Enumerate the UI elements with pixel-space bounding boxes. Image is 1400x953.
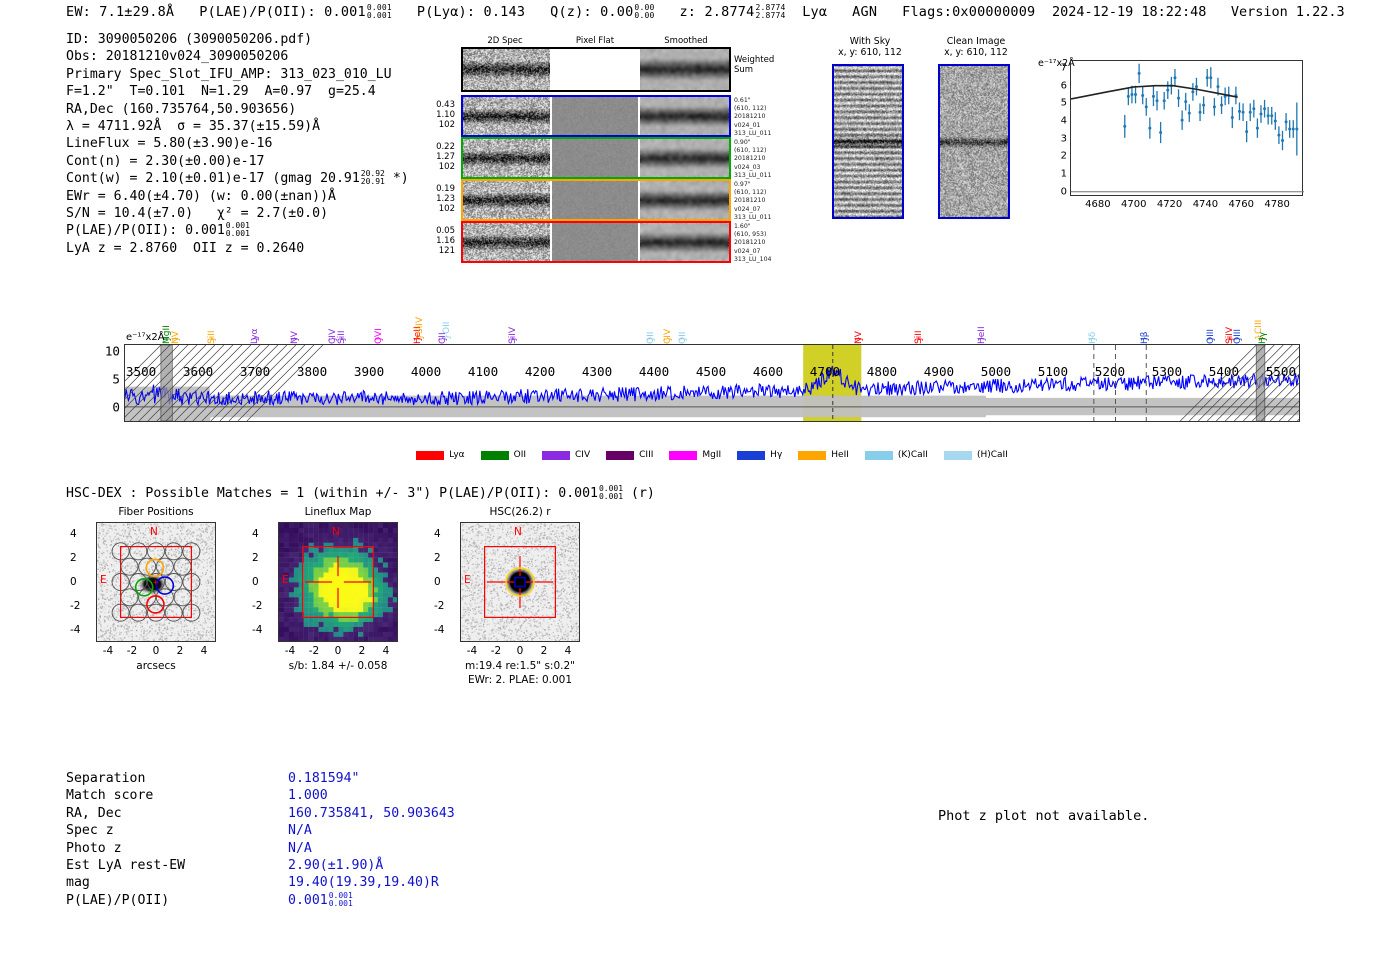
info-lambda-sigma: λ = 4711.92Å σ = 35.37(±15.59)Å: [66, 118, 409, 135]
info-radec: RA,Dec (160.735764,50.903656): [66, 101, 409, 118]
legend-swatch: [737, 451, 765, 460]
legend-item: CIV: [542, 450, 590, 460]
main-spec-xtick: 5300: [1152, 364, 1182, 379]
panel-ytick: 4: [252, 528, 259, 540]
header-agn-flag: AGN: [852, 4, 877, 20]
mini-spec-xtick: 4760: [1229, 199, 1254, 210]
panel-ytick: -4: [252, 624, 262, 636]
panel-ytick: -2: [434, 600, 444, 612]
match-table-value: N/A: [288, 822, 312, 839]
header-qz-errors: 0.000.00: [634, 4, 654, 20]
spec2d-cell: [463, 97, 550, 135]
main-spec-xtick: 4200: [525, 364, 555, 379]
emission-line-bracket: {: [414, 334, 424, 340]
hscdex-match-summary: HSC-DEX : Possible Matches = 1 (within +…: [66, 485, 655, 501]
legend-item: OII: [481, 450, 526, 460]
mini-spec-ytick: 2: [1061, 151, 1067, 162]
match-table-key: Spec z: [66, 822, 114, 839]
mini-spec-axes: 01234567468047004720474047604780: [1070, 60, 1303, 196]
info-plae-errors: 0.0010.001: [226, 222, 250, 238]
main-spec-xtick: 5400: [1209, 364, 1239, 379]
info-seeing-params: F=1.2" T=0.101 N=1.29 A=0.97 g=25.4: [66, 83, 409, 100]
emission-line-bracket: {: [206, 336, 216, 342]
panel-canvas: [461, 523, 579, 641]
legend-item: HeII: [798, 450, 849, 460]
mini-spec-ytick: 7: [1061, 63, 1067, 74]
spec2d-strip: [461, 137, 731, 179]
match-table-plae-errors: 0.0010.001: [329, 892, 353, 908]
cutout-title: Clean Imagex, y: 610, 112: [916, 36, 1036, 58]
match-table-key: mag: [66, 874, 90, 891]
spec2d-cell: [552, 49, 639, 90]
detection-info-block: ID: 3090050206 (3090050206.pdf) Obs: 201…: [66, 31, 409, 257]
panel-xtick: -2: [491, 645, 501, 657]
spec2d-strip: [461, 47, 731, 92]
legend-label: (K)CaII: [898, 450, 928, 460]
spec2d-row-stats: 0.051.16121: [429, 226, 455, 256]
legend-item: CIII: [606, 450, 653, 460]
match-table-value: 1.000: [288, 787, 328, 804]
info-plae-poii: P(LAE)/P(OII): 0.0010.0010.001: [66, 222, 409, 239]
weighted-sum-line2: Sum: [734, 66, 774, 76]
spec2d-column-title: Pixel Flat: [543, 36, 647, 46]
cutout-with-sky: [832, 64, 904, 219]
panel-xtick: 0: [335, 645, 342, 657]
info-id: ID: 3090050206 (3090050206.pdf): [66, 31, 409, 48]
legend-swatch: [542, 451, 570, 460]
spec2d-row-meta: 0.97"(610, 112)20181210v024_07313_LU_011: [734, 181, 771, 222]
legend-swatch: [944, 451, 972, 460]
imaging-panel-hsc-r: HSC(26.2) rNE420-2-4-4-2024m:19.4 re:1.5…: [426, 508, 614, 708]
spec2d-row-meta: 1.60"(610, 953)20181210v024_07313_LU_104: [734, 223, 771, 264]
emission-line-label: SiIV: [415, 288, 425, 334]
imaging-panel-lineflux-map: Lineflux MapNE420-2-4-4-2024s/b: 1.84 +/…: [244, 508, 432, 708]
spec2d-cell: [463, 181, 550, 219]
spec2d-cell: [552, 181, 639, 219]
emission-line-bracket: {: [853, 336, 863, 342]
mini-spec-xtick: 4700: [1121, 199, 1146, 210]
panel-xtick: -4: [103, 645, 113, 657]
match-table-key: Match score: [66, 787, 153, 804]
cutout-title-line2: x, y: 610, 112: [916, 47, 1036, 58]
panel-xtick: 2: [177, 645, 184, 657]
panel-caption: m:19.4 re:1.5" s:0.2": [426, 660, 614, 672]
emission-line-bracket: {: [170, 336, 180, 342]
legend-swatch: [798, 451, 826, 460]
spec2d-cell: [552, 139, 639, 177]
spec2d-row-stats: 0.221.27102: [429, 142, 455, 172]
emission-line-bracket: {: [913, 336, 923, 342]
spec2d-cell: [640, 49, 729, 90]
main-spec-xtick: 4500: [696, 364, 726, 379]
legend-swatch: [669, 451, 697, 460]
legend-label: Hγ: [770, 450, 782, 460]
panel-image: +: [96, 522, 216, 642]
report-timestamp: 2024-12-19 18:22:48: [1052, 4, 1206, 20]
panel-ytick: 2: [434, 552, 441, 564]
panel-xtick: 2: [541, 645, 548, 657]
panel-xtick: -2: [127, 645, 137, 657]
main-spec-xtick: 3500: [126, 364, 156, 379]
main-spec-xtick: 3700: [240, 364, 270, 379]
report-version: Version 1.22.3: [1231, 4, 1345, 20]
north-label: N: [150, 526, 158, 538]
cutout-title-line2: x, y: 610, 112: [810, 47, 930, 58]
emission-line-bracket: {: [662, 336, 672, 342]
full-spectrum-plot: e⁻¹⁷x2Å 0510 LyαOIICIVCIIIMgIIHγHeII(K)C…: [74, 282, 1308, 462]
info-ewr: EWr = 6.40(±4.70) (w: 0.00(±nan))Å: [66, 188, 409, 205]
spec2d-column-title: Smoothed: [633, 36, 739, 46]
match-table-key: Est LyA rest-EW: [66, 857, 185, 874]
header-plae-poii: P(LAE)/P(OII): 0.001: [199, 4, 366, 20]
mini-spec-xtick: 4780: [1264, 199, 1289, 210]
header-summary-line: EW: 7.1±29.8Å P(LAE)/P(OII): 0.0010.0010…: [66, 4, 1035, 20]
mini-spec-ytick: 5: [1061, 98, 1067, 109]
emission-line-bracket: {: [249, 336, 259, 342]
match-table-value: 160.735841, 50.903643: [288, 805, 455, 822]
hscdex-plae-errors: 0.0010.001: [599, 485, 623, 501]
emission-line-bracket: {: [440, 334, 450, 340]
main-spec-xtick: 3800: [297, 364, 327, 379]
legend-label: Lyα: [449, 450, 464, 460]
main-spec-xtick: 4300: [582, 364, 612, 379]
panel-title: Lineflux Map: [258, 506, 418, 518]
main-spec-ytick: 0: [112, 399, 120, 414]
main-spec-ytick: 10: [105, 343, 120, 358]
info-lineflux: LineFlux = 5.80(±3.90)e-16: [66, 135, 409, 152]
match-table-value: 19.40(19.39,19.40)R: [288, 874, 439, 891]
panel-ytick: 0: [252, 576, 259, 588]
east-label: E: [100, 574, 107, 586]
legend-item: (K)CaII: [865, 450, 928, 460]
panel-xtick: 0: [517, 645, 524, 657]
panel-xtick: -2: [309, 645, 319, 657]
panel-ytick: 2: [252, 552, 259, 564]
header-flags: Flags:0x00000009: [902, 4, 1035, 20]
panel-xtick: 4: [565, 645, 572, 657]
emission-line-bracket: {: [289, 336, 299, 342]
legend-label: OII: [514, 450, 526, 460]
cutout-title-line1: Clean Image: [916, 36, 1036, 47]
hscdex-title-text: HSC-DEX : Possible Matches = 1 (within +…: [66, 486, 598, 501]
emission-line-bracket: {: [336, 336, 346, 342]
match-table-value: 2.90(±1.90)Å: [288, 857, 383, 874]
spec2d-cell: [640, 181, 729, 219]
spec2d-cell: [640, 223, 729, 261]
east-label: E: [282, 574, 289, 586]
panel-title: HSC(26.2) r: [440, 506, 600, 518]
spec2d-cell: [640, 139, 729, 177]
panel-ytick: 0: [70, 576, 77, 588]
spec2d-strip: [461, 95, 731, 137]
spec2d-strip: [461, 221, 731, 263]
cutouts-panel: With Skyx, y: 610, 112Clean Imagex, y: 6…: [820, 36, 1030, 246]
panel-ytick: -4: [70, 624, 80, 636]
main-spec-xtick: 3600: [183, 364, 213, 379]
panel-xtick: 4: [383, 645, 390, 657]
main-spec-xtick: 5000: [981, 364, 1011, 379]
legend-swatch: [416, 451, 444, 460]
legend-item: MgII: [669, 450, 721, 460]
imaging-panels-row: Fiber Positions+NE420-2-4-4-2024arcsecsL…: [62, 508, 662, 738]
match-table-key: Separation: [66, 770, 145, 787]
mini-spec-ytick: 3: [1061, 133, 1067, 144]
panel-xtick: 2: [359, 645, 366, 657]
emission-line-bracket: {: [373, 336, 383, 342]
mini-spec-ytick: 4: [1061, 116, 1067, 127]
mini-spec-xtick: 4680: [1085, 199, 1110, 210]
panel-ytick: 4: [434, 528, 441, 540]
panel-ytick: -4: [434, 624, 444, 636]
match-table-value: N/A: [288, 840, 312, 857]
legend-item: Lyα: [416, 450, 464, 460]
spec2d-cell: [640, 97, 729, 135]
mini-spec-ytick: 0: [1061, 186, 1067, 197]
emission-line-bracket: {: [1087, 336, 1097, 342]
emission-line-bracket: {: [976, 336, 986, 342]
spec2d-row-meta: 0.61"(610, 112)20181210v024_01313_LU_011: [734, 97, 771, 138]
spec2d-row-meta: 0.90"(610, 112)20181210v024_03313_LU_011: [734, 139, 771, 180]
main-spec-xtick: 4400: [639, 364, 669, 379]
panel-caption: s/b: 1.84 +/- 0.058: [244, 660, 432, 672]
emission-line-label: OII: [442, 288, 452, 334]
match-table-key: Photo z: [66, 840, 122, 857]
legend-item: Hγ: [737, 450, 782, 460]
panel-xtick: 4: [201, 645, 208, 657]
cutout-clean-image: [938, 64, 1010, 219]
header-redshift: z: 2.8774: [679, 4, 754, 20]
main-spec-ytick: 5: [112, 371, 120, 386]
mini-spec-canvas: [1071, 61, 1304, 197]
main-spec-xtick: 4100: [468, 364, 498, 379]
emission-line-bracket: {: [1232, 336, 1242, 342]
info-primary-spec: Primary Spec_Slot_IFU_AMP: 313_023_010_L…: [66, 66, 409, 83]
main-spec-xtick: 4900: [924, 364, 954, 379]
header-qz: Q(z): 0.00: [550, 4, 633, 20]
emission-line-legend: LyαOIICIVCIIIMgIIHγHeII(K)CaII(H)CaII: [124, 448, 1300, 462]
spec2d-cell: [463, 139, 550, 177]
emission-line-bracket: {: [1139, 336, 1149, 342]
spec2d-cell: [463, 223, 550, 261]
header-classification: Lyα: [802, 4, 827, 20]
mini-spec-ytick: 6: [1061, 80, 1067, 91]
legend-swatch: [606, 451, 634, 460]
panel-canvas: [279, 523, 397, 641]
main-spec-xtick: 5200: [1095, 364, 1125, 379]
spec2d-cell: [552, 97, 639, 135]
main-spec-xtick: 5100: [1038, 364, 1068, 379]
spec2d-cell: [552, 223, 639, 261]
north-label: N: [514, 526, 522, 538]
imaging-panel-fiber-positions: Fiber Positions+NE420-2-4-4-2024arcsecs: [62, 508, 250, 708]
legend-swatch: [481, 451, 509, 460]
header-ew: EW: 7.1±29.8Å: [66, 4, 174, 20]
legend-item: (H)CaII: [944, 450, 1008, 460]
emission-line-bracket: {: [645, 336, 655, 342]
panel-xtick: -4: [285, 645, 295, 657]
panel-ytick: 2: [70, 552, 77, 564]
info-obs: Obs: 20181210v024_3090050206: [66, 48, 409, 65]
panel-ytick: -2: [252, 600, 262, 612]
mini-spec-ytick: 1: [1061, 169, 1067, 180]
legend-label: CIII: [639, 450, 653, 460]
emission-line-zoom-plot: e⁻¹⁷x2Å 01234567468047004720474047604780: [1035, 56, 1307, 224]
info-cont-w-errors: 20.9220.91: [361, 170, 385, 186]
legend-label: (H)CaII: [977, 450, 1008, 460]
info-snr-chi2: S/N = 10.4(±7.0) χ² = 2.7(±0.0): [66, 205, 409, 222]
legend-swatch: [865, 451, 893, 460]
emission-line-bracket: {: [1205, 336, 1215, 342]
hscdex-filter: (r): [631, 486, 655, 501]
main-spec-xtick: 4800: [867, 364, 897, 379]
spec2d-row-stats: 0.431.10102: [429, 100, 455, 130]
north-label: N: [332, 526, 340, 538]
mini-spec-xtick: 4740: [1193, 199, 1218, 210]
emission-line-bracket: {: [1257, 336, 1267, 342]
panel-ytick: 4: [70, 528, 77, 540]
weighted-sum-label: WeightedSum: [734, 56, 774, 75]
legend-label: MgII: [702, 450, 721, 460]
header-plae-poii-errors: 0.0010.001: [367, 4, 392, 20]
panel-title: Fiber Positions: [76, 506, 236, 518]
cutout-title: With Skyx, y: 610, 112: [810, 36, 930, 58]
header-plya: P(Lyα): 0.143: [417, 4, 525, 20]
main-spec-xtick: 5500: [1266, 364, 1296, 379]
panel-ytick: 0: [434, 576, 441, 588]
panel-caption: arcsecs: [62, 660, 250, 672]
info-cont-w: Cont(w) = 2.10(±0.01)e-17 (gmag 20.9120.…: [66, 170, 409, 187]
main-spec-unit-label: e⁻¹⁷x2Å: [126, 332, 165, 343]
east-label: E: [464, 574, 471, 586]
spec2d-cell: [463, 49, 550, 90]
panel-ytick: -2: [70, 600, 80, 612]
panel-image: [460, 522, 580, 642]
panel-image: [278, 522, 398, 642]
main-spec-xtick: 4700: [810, 364, 840, 379]
match-table-key: P(LAE)/P(OII): [66, 892, 169, 909]
spec2d-column-title: 2D Spec: [453, 36, 557, 46]
match-table-key: RA, Dec: [66, 805, 122, 822]
match-table-value: 0.0010.0010.001: [288, 892, 353, 909]
svg-text:+: +: [153, 578, 159, 588]
emission-line-bracket: {: [676, 336, 686, 342]
panel-caption-secondary: EWr: 2. PLAE: 0.001: [426, 674, 614, 686]
info-redshift-solutions: LyA z = 2.8760 OII z = 0.2640: [66, 240, 409, 257]
panel-xtick: 0: [153, 645, 160, 657]
main-spec-xtick: 4000: [411, 364, 441, 379]
header-timestamp-version: 2024-12-19 18:22:48 Version 1.22.3: [1052, 4, 1345, 20]
spec2d-row-stats: 0.191.23102: [429, 184, 455, 214]
emission-line-bracket: {: [507, 336, 517, 342]
main-spectrum-canvas: [125, 345, 1299, 421]
photz-plot-message: Phot z plot not available.: [938, 808, 1149, 824]
spec2d-strip: [461, 179, 731, 221]
info-cont-n: Cont(n) = 2.30(±0.00)e-17: [66, 153, 409, 170]
mini-spec-xtick: 4720: [1157, 199, 1182, 210]
match-table-value: 0.181594": [288, 770, 359, 787]
main-spec-xtick: 3900: [354, 364, 384, 379]
header-redshift-errors: 2.87742.8774: [755, 4, 785, 20]
panel-canvas: +: [97, 523, 215, 641]
legend-label: CIV: [575, 450, 590, 460]
main-spectrum-axes: 0510: [124, 344, 1300, 422]
cutout-title-line1: With Sky: [810, 36, 930, 47]
panel-xtick: -4: [467, 645, 477, 657]
legend-label: HeII: [831, 450, 849, 460]
main-spec-xtick: 4600: [753, 364, 783, 379]
